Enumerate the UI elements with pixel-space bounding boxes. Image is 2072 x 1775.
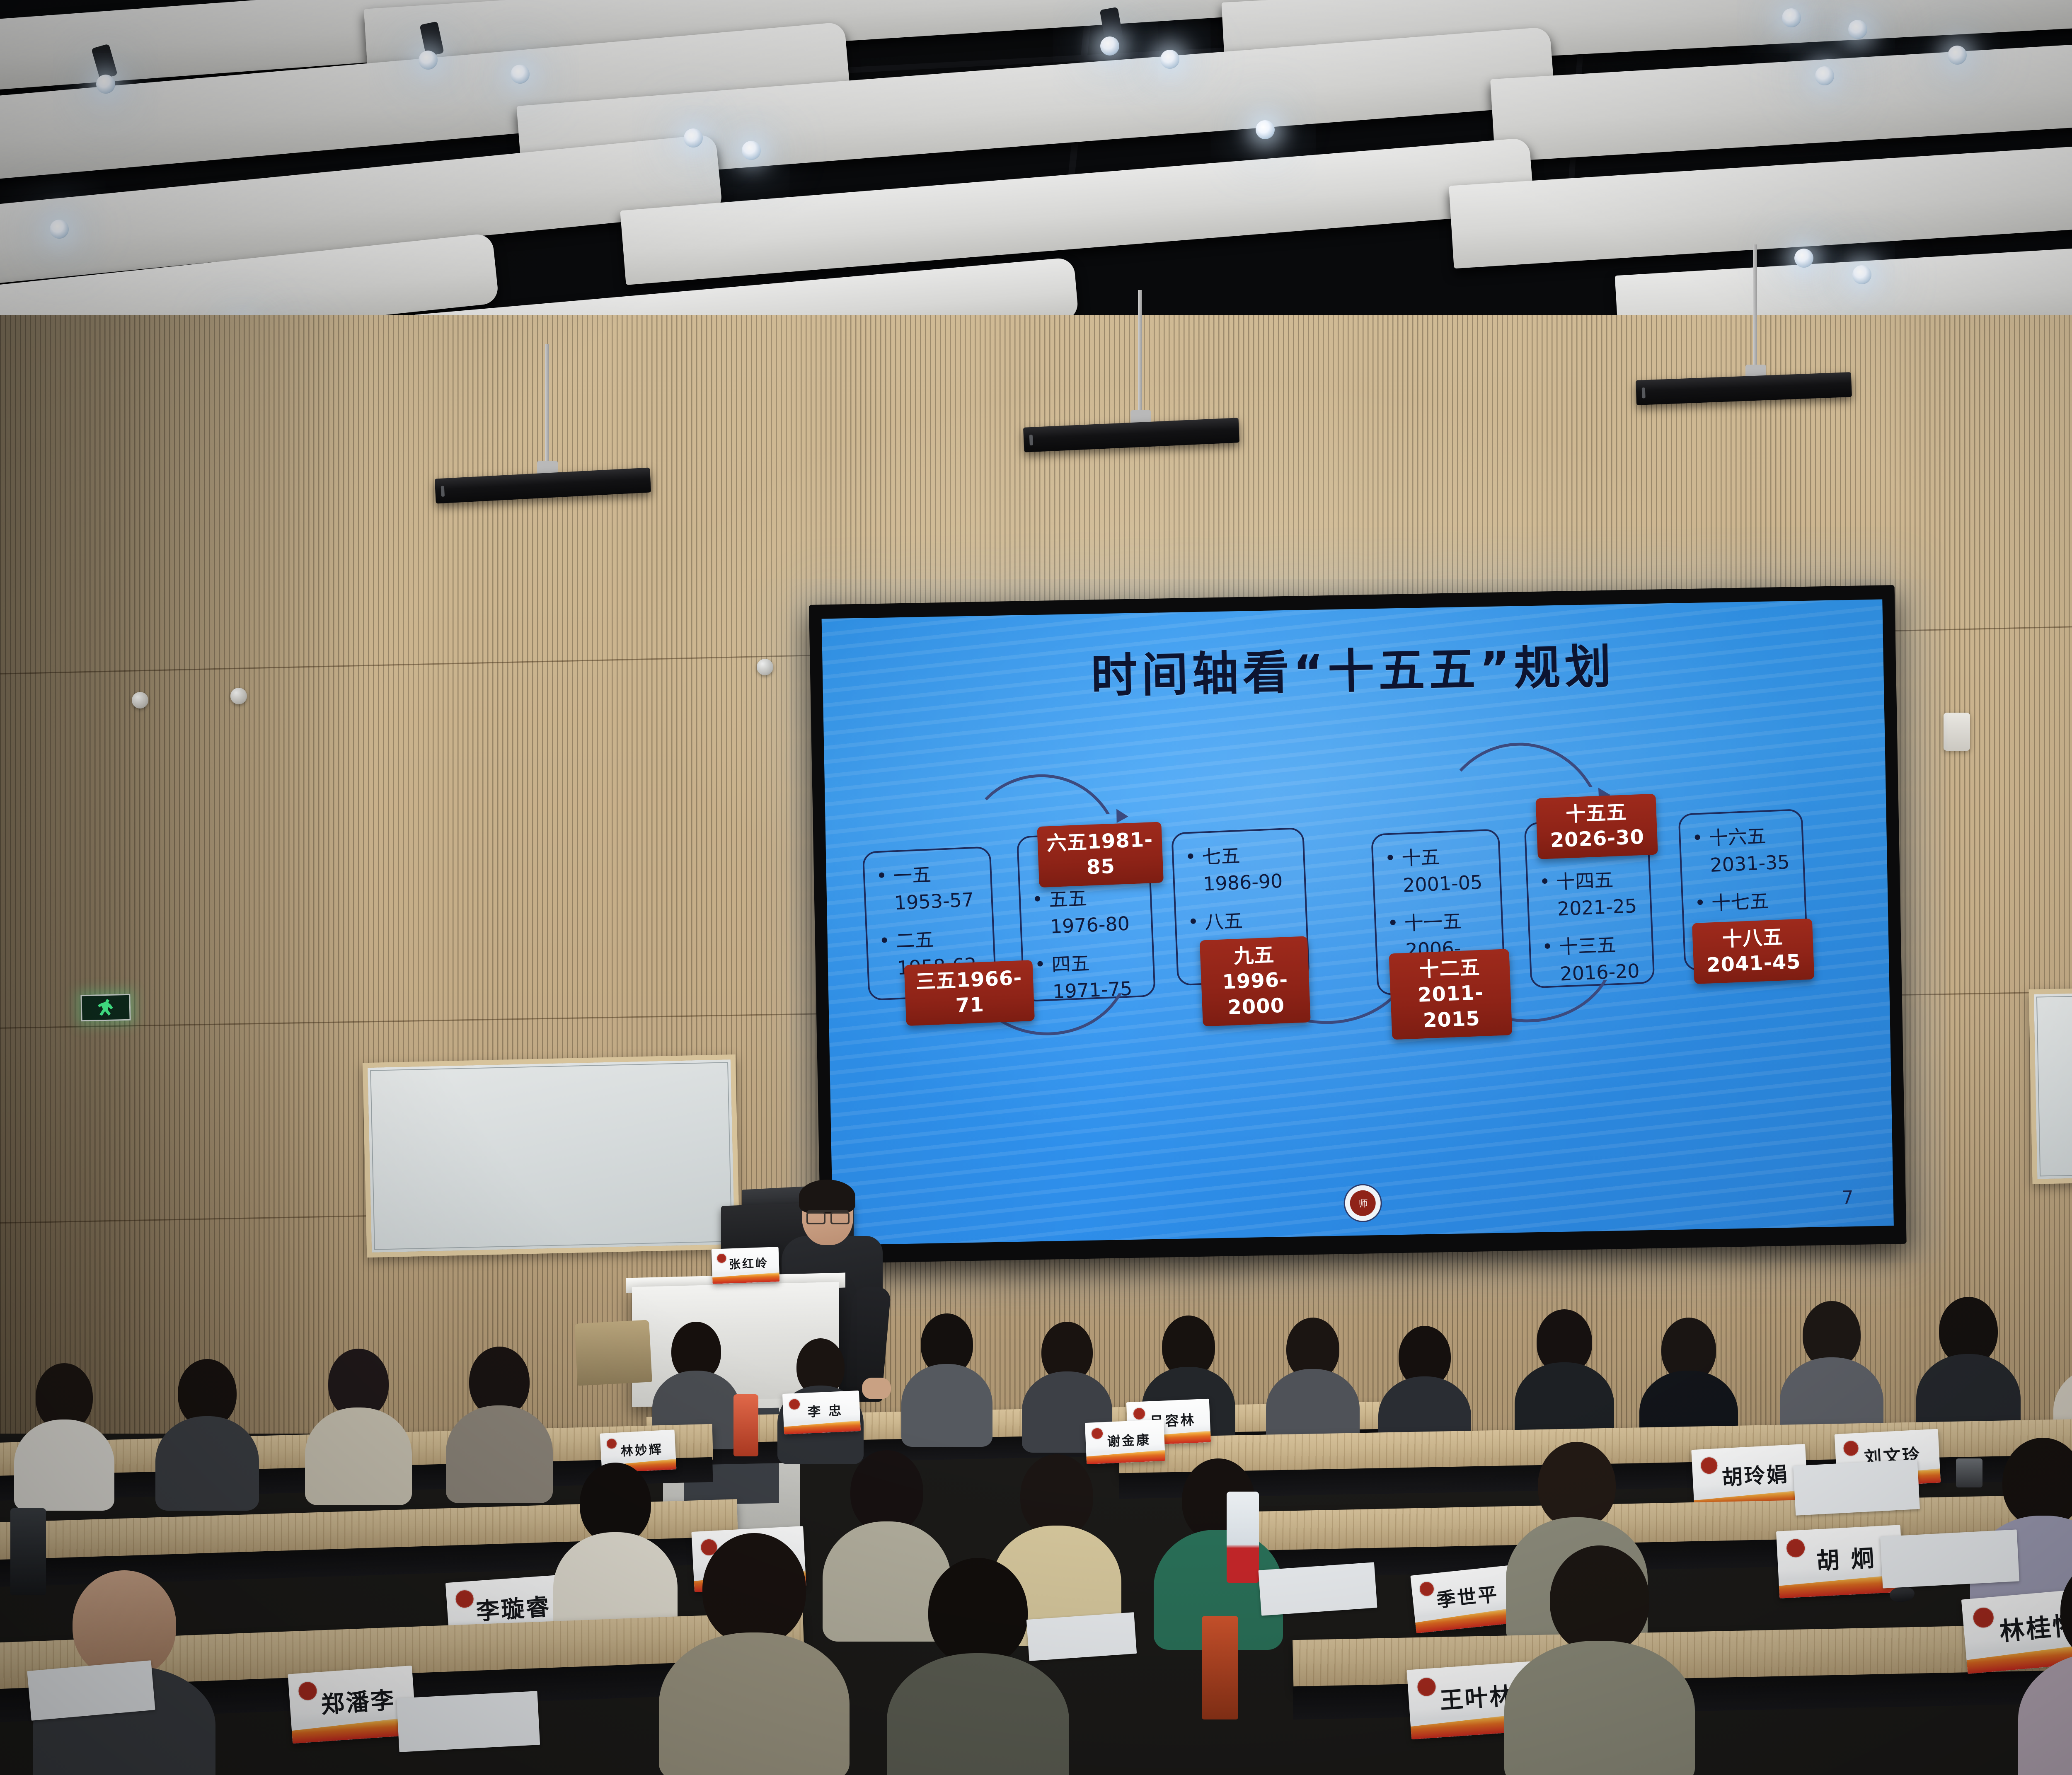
- water-bottle[interactable]: [733, 1394, 758, 1456]
- speaker-mount-rod: [545, 344, 549, 464]
- timeline-item: 十六五2031-35: [1694, 822, 1795, 880]
- namecard-name: 林妙辉: [620, 1439, 663, 1459]
- person-head: [2060, 1558, 2072, 1663]
- whiteboard-right: [2029, 983, 2072, 1184]
- presentation-screen: 时间轴看“十五五”规划 一五1953-57 二五1958-62 三: [809, 585, 1907, 1264]
- travel-mug[interactable]: [1202, 1616, 1238, 1719]
- audience-person: [157, 1359, 257, 1483]
- namecard-seal-icon: [1132, 1407, 1146, 1420]
- wall-speaker-box: [1944, 713, 1970, 751]
- person-head: [850, 1450, 923, 1533]
- ceiling-spotlight: [1100, 36, 1119, 56]
- audience-person-foreground: [2022, 1558, 2072, 1775]
- emergency-exit-icon: [80, 994, 131, 1021]
- person-body: [446, 1405, 553, 1503]
- person-head: [2002, 1438, 2072, 1527]
- ceiling-spotlight: [50, 220, 69, 239]
- namecard-seal-icon: [1842, 1439, 1859, 1457]
- nc-lishiping: 季世平: [1410, 1565, 1515, 1633]
- timeline-arrow-icon: [1111, 805, 1128, 823]
- namecard-seal-icon: [605, 1437, 618, 1450]
- timeline-item: 一五1953-57: [879, 859, 983, 917]
- ceiling-spotlight: [684, 128, 703, 148]
- timeline-badge-1: 三五1966-71: [904, 960, 1035, 1026]
- lecture-hall-photo: 时间轴看“十五五”规划 一五1953-57 二五1958-62 三: [0, 0, 2072, 1775]
- ceiling-spotlight: [419, 51, 438, 70]
- namecard-name: 胡玲娟: [1721, 1458, 1790, 1491]
- person-body: [1504, 1641, 1695, 1775]
- timeline-item: 七五1986-90: [1187, 840, 1296, 899]
- namecard-seal-icon: [297, 1681, 318, 1702]
- slide-page-number: 7: [1842, 1187, 1854, 1209]
- person-head: [702, 1533, 806, 1645]
- ceiling-spotlight: [1852, 265, 1871, 284]
- nc-lizhong: 李 忠: [782, 1390, 861, 1434]
- speaker-mount-rod: [1753, 244, 1757, 369]
- namecard-name: 李璇睿: [475, 1588, 552, 1627]
- timeline-badge-6: 十八五2041-45: [1692, 919, 1815, 984]
- person-body: [14, 1420, 114, 1511]
- person-body: [887, 1653, 1069, 1775]
- namecard-seal-icon: [1785, 1538, 1806, 1559]
- ceiling-spotlight: [96, 75, 115, 94]
- namecard-seal-icon: [1416, 1676, 1437, 1698]
- audience-person: [655, 1322, 738, 1421]
- person-body: [155, 1416, 259, 1511]
- person-head: [928, 1558, 1028, 1666]
- person-head: [73, 1570, 176, 1678]
- ceiling-spotlight: [1160, 50, 1179, 69]
- wall-dome-fixture: [132, 692, 148, 709]
- audience-person-foreground: [1508, 1545, 1691, 1775]
- person-body: [901, 1364, 992, 1447]
- namecard-name: 胡 炯: [1815, 1539, 1877, 1576]
- ceiling-spotlight: [511, 65, 530, 84]
- namecard-name: 郑潘李: [320, 1681, 397, 1719]
- audience-person: [555, 1463, 675, 1624]
- audience-person: [17, 1363, 112, 1483]
- presenter-hand: [862, 1378, 891, 1399]
- namecard-seal-icon: [788, 1398, 801, 1411]
- stage-chair[interactable]: [574, 1320, 652, 1386]
- timeline-item: 十五2001-05: [1387, 842, 1492, 900]
- timeline-badge-2: 六五1981-85: [1037, 822, 1164, 888]
- whiteboard-surface: [2036, 991, 2072, 1177]
- ceiling-spotlight: [1948, 46, 1967, 65]
- handout-paper[interactable]: [1259, 1562, 1377, 1615]
- namecard-seal-icon: [454, 1589, 475, 1610]
- audience-person: [1641, 1318, 1736, 1429]
- timeline-badge-5: 十五五2026-30: [1535, 794, 1658, 859]
- person-head: [1538, 1442, 1616, 1528]
- whiteboard-surface: [370, 1062, 732, 1250]
- person-body: [2018, 1652, 2072, 1775]
- presenter-hair: [799, 1180, 855, 1214]
- namecard-name: 季世平: [1435, 1579, 1500, 1613]
- whiteboard-left: [363, 1054, 740, 1257]
- handout-paper[interactable]: [1880, 1529, 2019, 1588]
- audience-person: [903, 1313, 990, 1417]
- namecard-seal-icon: [1418, 1580, 1435, 1598]
- audience-person: [1517, 1309, 1612, 1421]
- wall-dome-fixture: [230, 688, 247, 704]
- glasses-icon: [807, 1210, 849, 1220]
- ceiling-spotlight: [742, 141, 761, 160]
- audience-person: [2055, 1309, 2072, 1434]
- ceiling-spotlight: [1848, 20, 1867, 39]
- audience-person: [448, 1347, 551, 1475]
- person-head: [1550, 1545, 1649, 1653]
- audience-person: [1919, 1297, 2018, 1421]
- wall-dome-fixture: [757, 659, 773, 675]
- namecard-seal-icon: [1699, 1456, 1719, 1475]
- audience-person-foreground: [891, 1558, 1065, 1775]
- audience-person: [1380, 1326, 1469, 1429]
- person-head: [1020, 1454, 1093, 1537]
- seal-text: 师: [1350, 1190, 1376, 1216]
- timeline-item: 十四五2021-25: [1542, 866, 1642, 924]
- namecard-name: 谢金康: [1107, 1429, 1151, 1450]
- nc-zhanghongling: 张红岭: [712, 1247, 780, 1284]
- audience-person: [307, 1349, 410, 1477]
- timeline-badge-3: 九五1996-2000: [1200, 936, 1311, 1026]
- namecard-seal-icon: [716, 1253, 727, 1264]
- handout-paper[interactable]: [1793, 1459, 1920, 1516]
- ceiling-spotlight: [1256, 120, 1275, 139]
- person-head: [580, 1463, 651, 1544]
- ceiling-spotlight: [1794, 249, 1813, 268]
- handout-paper[interactable]: [1026, 1612, 1137, 1661]
- timeline-item: 五五1976-80: [1034, 883, 1143, 941]
- namecard-name: 张红岭: [729, 1254, 769, 1272]
- namecard-seal-icon: [1091, 1427, 1104, 1440]
- audience-person: [1268, 1318, 1357, 1421]
- timeline-badge-4: 十二五2011-2015: [1389, 949, 1513, 1040]
- ceiling-spotlight: [1815, 66, 1834, 85]
- slide-surface: 时间轴看“十五五”规划 一五1953-57 二五1958-62 三: [822, 600, 1894, 1245]
- audience-person-foreground: [663, 1533, 845, 1773]
- handout-paper[interactable]: [397, 1691, 540, 1752]
- person-body: [659, 1632, 850, 1775]
- speaker-mount-rod: [1138, 290, 1142, 414]
- running-man-glyph: [97, 999, 115, 1017]
- ceiling-spotlight: [1782, 8, 1801, 27]
- water-bottle[interactable]: [1227, 1492, 1259, 1583]
- namecard-seal-icon: [1972, 1606, 1995, 1630]
- audience-person: [1024, 1322, 1111, 1421]
- audience-person: [1782, 1301, 1881, 1421]
- namecard-name: 李 忠: [807, 1400, 843, 1420]
- person-body: [305, 1407, 412, 1505]
